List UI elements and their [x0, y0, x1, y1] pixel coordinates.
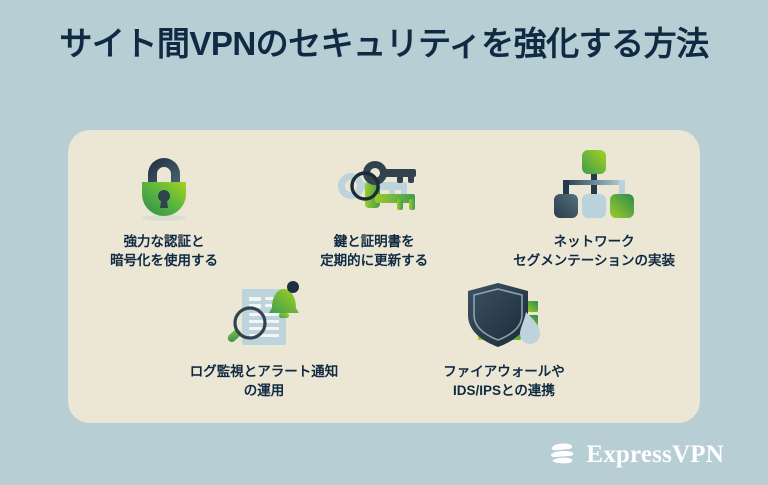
firewall-shield-icon — [461, 278, 547, 356]
tip-label: 強力な認証と 暗号化を使用する — [110, 232, 218, 270]
infographic-poster: サイト間VPNのセキュリティを強化する方法 — [0, 0, 768, 485]
log-monitor-alert-icon — [221, 278, 307, 356]
keys-icon — [331, 148, 417, 226]
tip-label: ログ監視とアラート通知 の運用 — [190, 362, 339, 400]
padlock-icon — [121, 148, 207, 226]
tip-item-firewall-ids-ips: ファイアウォールや IDS/IPSとの連携 — [396, 278, 612, 400]
expressvpn-logo: ExpressVPN — [547, 439, 724, 469]
page-title: サイト間VPNのセキュリティを強化する方法 — [0, 22, 768, 66]
tips-row-top: 強力な認証と 暗号化を使用する — [68, 148, 700, 270]
tip-label: 鍵と証明書を 定期的に更新する — [320, 232, 428, 270]
network-segmentation-icon — [551, 148, 637, 226]
tip-item-log-monitoring: ログ監視とアラート通知 の運用 — [156, 278, 372, 400]
tip-item-key-rotation: 鍵と証明書を 定期的に更新する — [278, 148, 470, 270]
tip-item-strong-auth: 強力な認証と 暗号化を使用する — [68, 148, 260, 270]
tip-item-network-segmentation: ネットワーク セグメンテーションの実装 — [488, 148, 700, 270]
tip-label: ネットワーク セグメンテーションの実装 — [513, 232, 675, 270]
expressvpn-e-mark-icon — [547, 439, 577, 469]
content-card: 強力な認証と 暗号化を使用する — [68, 130, 700, 423]
tip-label: ファイアウォールや IDS/IPSとの連携 — [443, 362, 565, 400]
page-title-text: サイト間VPNのセキュリティを強化する方法 — [59, 22, 708, 66]
expressvpn-logo-text: ExpressVPN — [586, 441, 724, 468]
tips-row-bottom: ログ監視とアラート通知 の運用 — [68, 278, 700, 400]
